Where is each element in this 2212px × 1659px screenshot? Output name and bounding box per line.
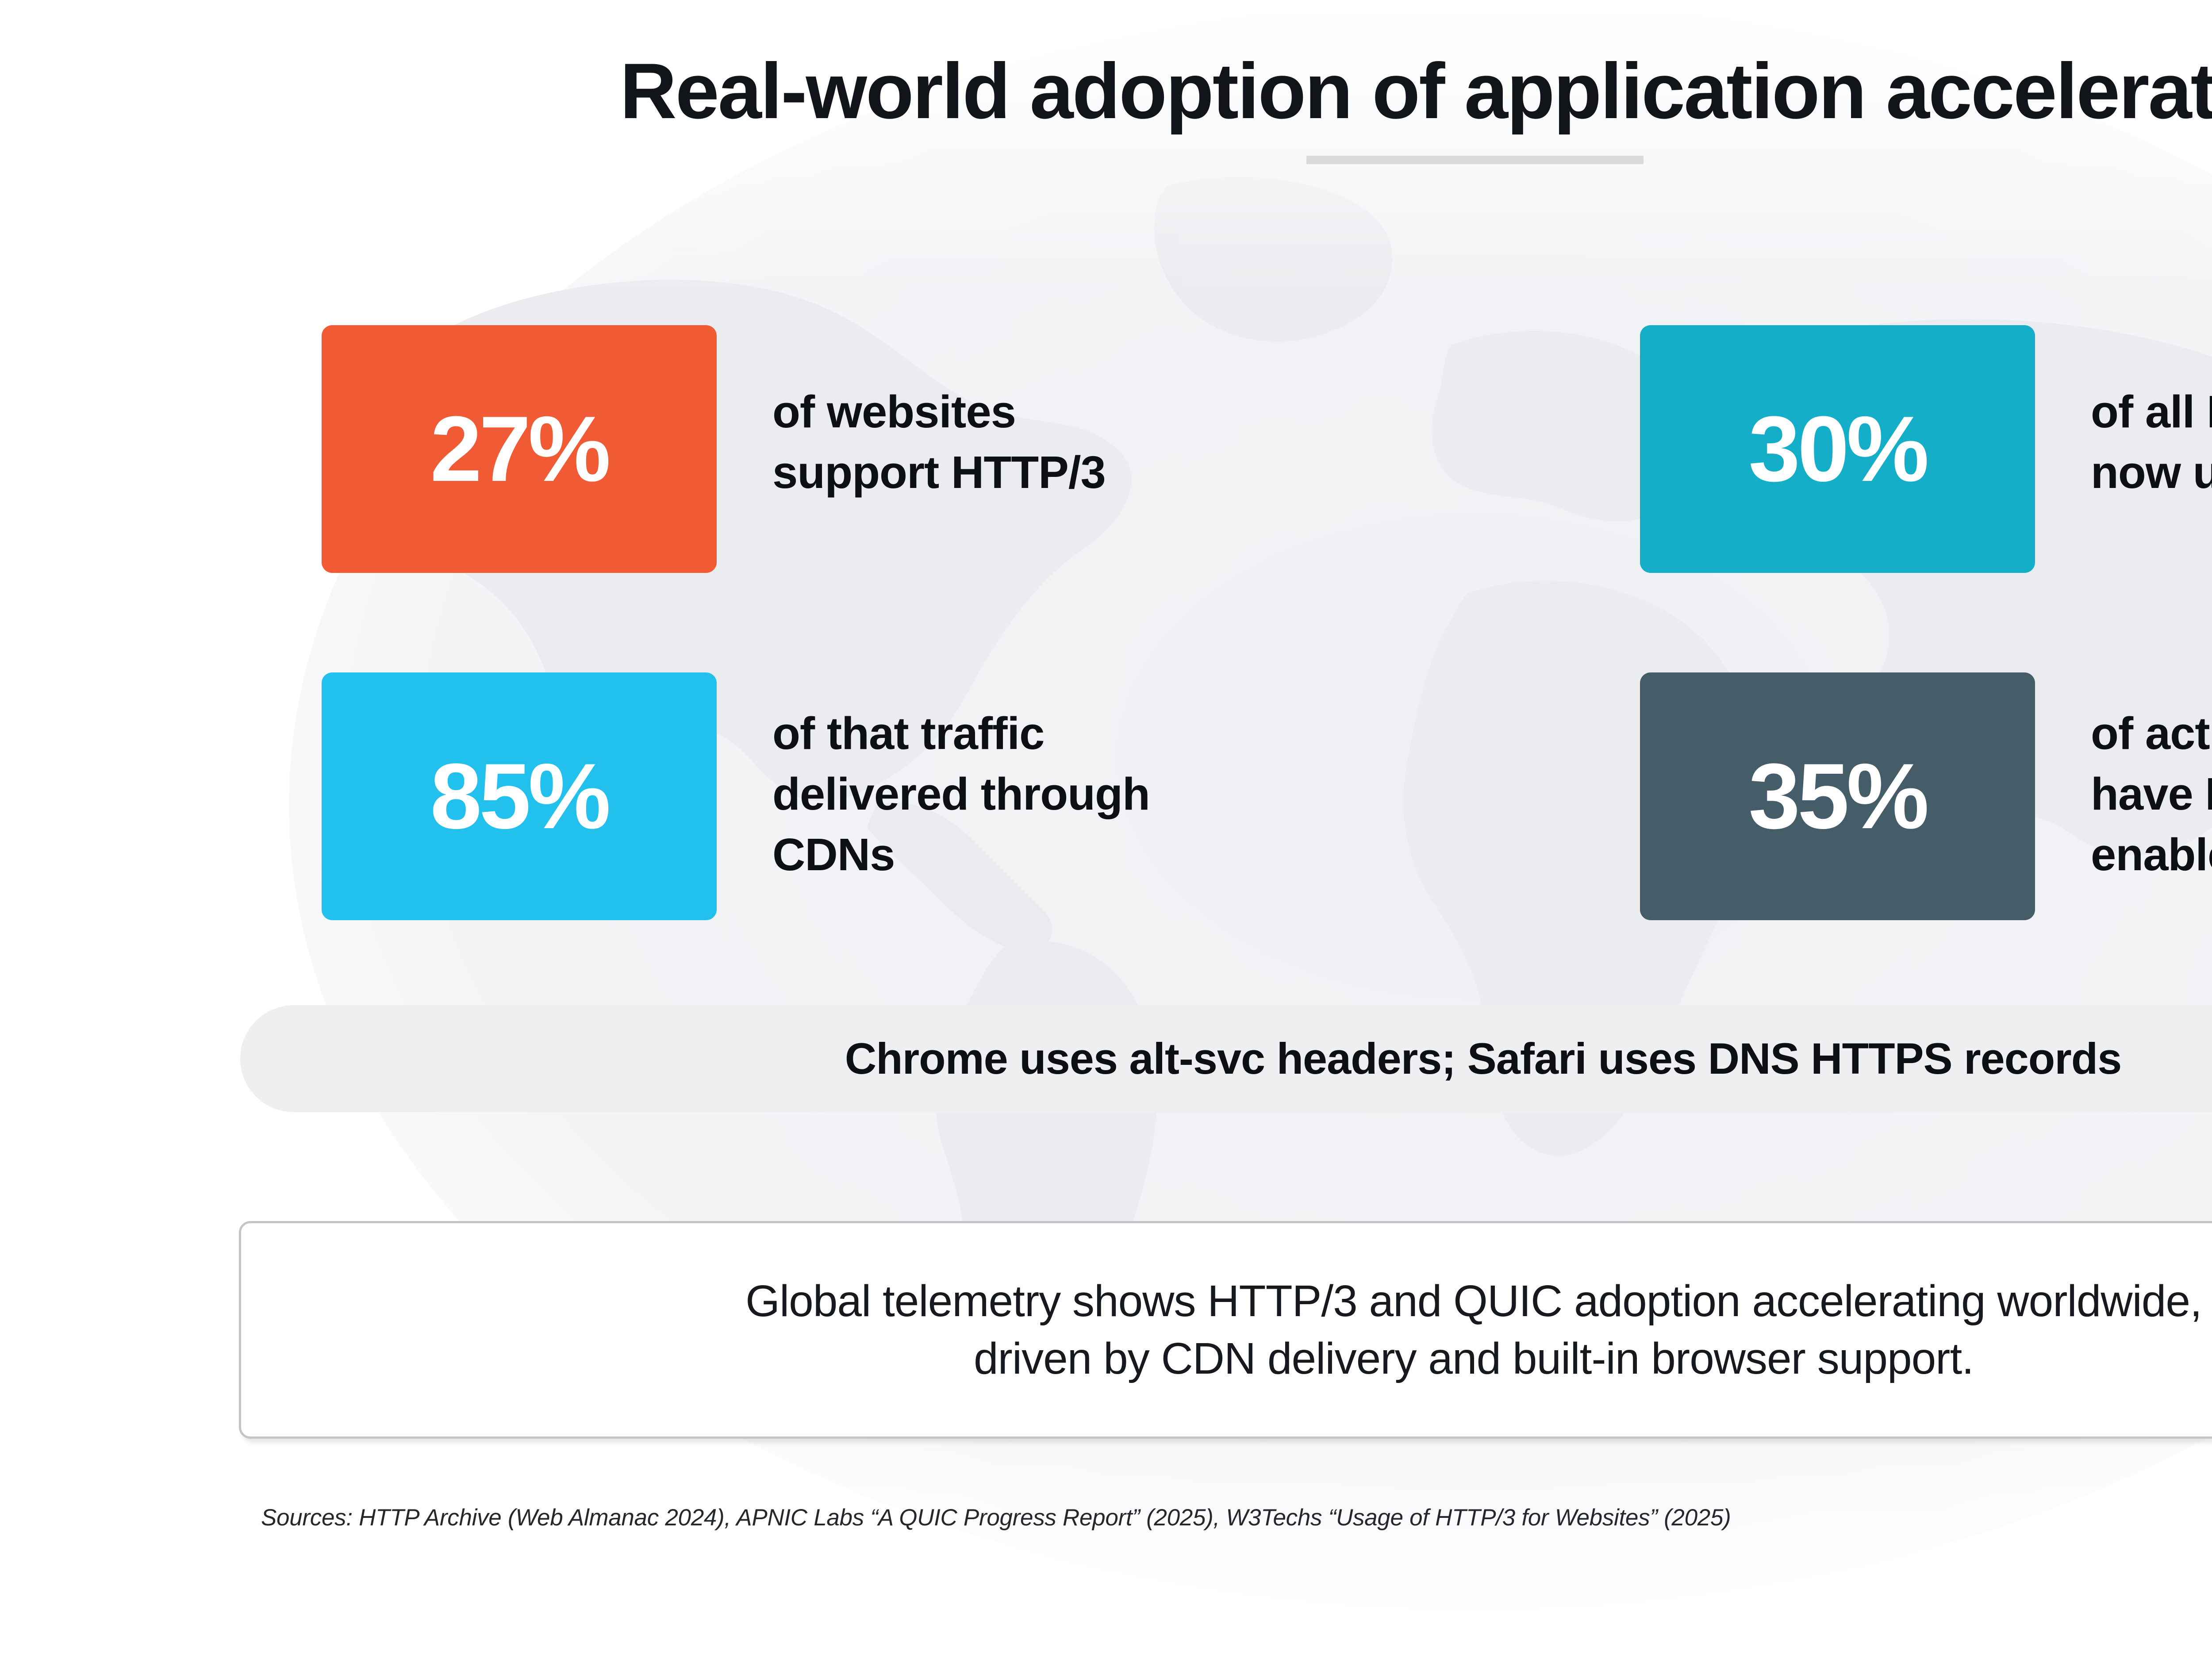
stat-label: of active websites have HTTP/3 enabled: [2091, 703, 2212, 885]
summary-callout-box: Global telemetry shows HTTP/3 and QUIC a…: [239, 1221, 2212, 1439]
summary-text: Global telemetry shows HTTP/3 and QUIC a…: [692, 1272, 2212, 1387]
stat-card-quic-traffic[interactable]: 30% of all HTTP traffic now uses QUIC: [1640, 325, 2212, 573]
stat-value: 35%: [1748, 750, 1926, 843]
stat-card-http3-websites[interactable]: 27% of websites support HTTP/3: [322, 325, 1640, 573]
browser-support-note-banner: Chrome uses alt-svc headers; Safari uses…: [240, 1005, 2212, 1112]
grid-row-spacer: [322, 573, 1640, 672]
stat-value: 85%: [430, 750, 608, 843]
note-text: Chrome uses alt-svc headers; Safari uses…: [845, 1033, 2122, 1084]
stat-value: 30%: [1748, 403, 1926, 495]
page-title: Real-world adoption of application accel…: [0, 49, 2212, 134]
stat-card-active-websites[interactable]: 35% of active websites have HTTP/3 enabl…: [1640, 672, 2212, 920]
stat-label: of that traffic delivered through CDNs: [772, 703, 1150, 885]
stat-card-cdn-delivery[interactable]: 85% of that traffic delivered through CD…: [322, 672, 1640, 920]
stat-label: of all HTTP traffic now uses QUIC: [2091, 382, 2212, 503]
title-divider: [1306, 156, 1644, 164]
stat-label: of websites support HTTP/3: [772, 382, 1106, 503]
title-block: Real-world adoption of application accel…: [0, 49, 2212, 164]
stat-badge-slate: 35%: [1640, 672, 2035, 920]
stat-badge-cyan: 85%: [322, 672, 717, 920]
stat-grid: 27% of websites support HTTP/3 30% of al…: [322, 325, 2212, 920]
stat-value: 27%: [430, 403, 608, 495]
stat-badge-orange: 27%: [322, 325, 717, 573]
sources-footnote: Sources: HTTP Archive (Web Almanac 2024)…: [261, 1504, 1731, 1531]
stat-badge-teal: 30%: [1640, 325, 2035, 573]
grid-row-spacer: [1640, 573, 2212, 672]
